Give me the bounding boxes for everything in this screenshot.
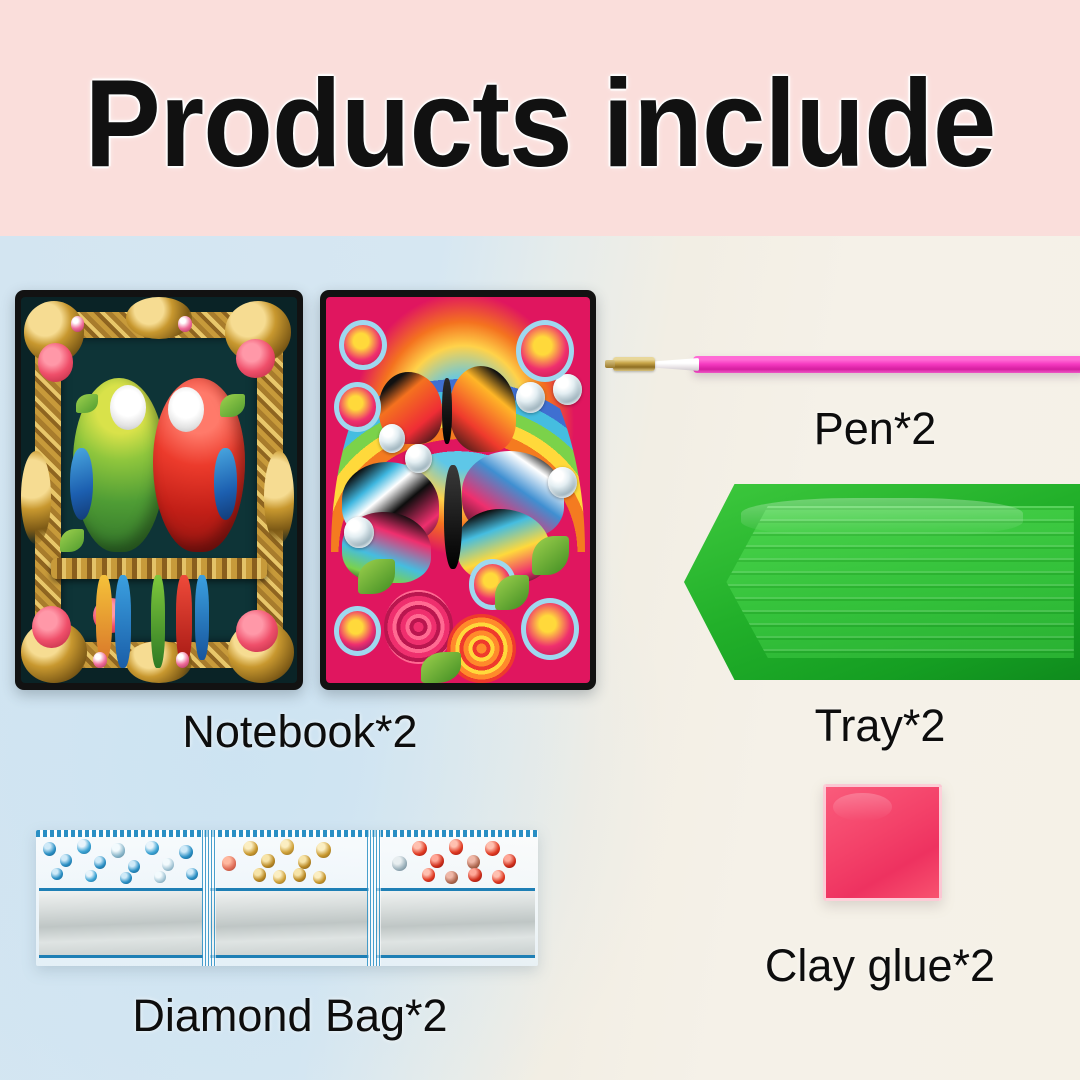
rhinestone-gem: [71, 316, 85, 331]
butterfly-body: [442, 378, 452, 445]
pearl-bead: [344, 517, 373, 548]
header-band: Products include: [0, 0, 1080, 238]
diamond-packet: [36, 830, 207, 966]
packet-foil-label: [39, 888, 203, 958]
parrot-face: [110, 385, 146, 430]
pearl-bead: [405, 444, 431, 473]
green-leaf: [495, 575, 529, 610]
product-image-notebook-parrots[interactable]: [15, 290, 303, 690]
page-title: Products include: [43, 62, 1037, 186]
parrot-wing: [70, 448, 94, 521]
circle-motif: [339, 320, 387, 370]
pearl-bead: [516, 382, 545, 413]
rhinestone-gem: [178, 316, 192, 331]
pink-flower: [32, 606, 71, 648]
parrot-face: [168, 387, 204, 432]
label-clay-glue: Clay glue*2: [720, 942, 1040, 989]
label-tray: Tray*2: [760, 702, 1000, 749]
circle-motif: [521, 598, 579, 660]
packet-seam: [202, 830, 216, 966]
parrot-tail: [195, 575, 209, 660]
tray-grooved-base: [726, 506, 1073, 659]
pearl-bead: [548, 467, 577, 498]
pen-metal-tip: [613, 357, 655, 371]
diamond-packet: [372, 830, 538, 966]
packet-foil-label: [376, 888, 535, 958]
parrot-cover-art: [21, 297, 297, 683]
green-leaf: [358, 559, 395, 594]
butterfly-wing: [450, 366, 516, 451]
circle-motif: [334, 606, 382, 656]
parrot-tail: [176, 575, 193, 664]
parrot-tail: [115, 575, 132, 668]
pen-barrel: [693, 356, 1080, 373]
rhinestone-gem: [93, 652, 107, 667]
packet-foil-label: [210, 888, 369, 958]
parrot-wing: [214, 448, 238, 521]
circle-motif: [334, 382, 382, 432]
packet-seam: [367, 830, 381, 966]
parrot-tail: [96, 575, 113, 660]
product-image-diamond-bag[interactable]: [36, 830, 538, 966]
pink-flower: [236, 610, 277, 652]
frame-scroll-ornament: [264, 451, 294, 544]
green-leaf: [421, 652, 461, 683]
diamond-packet: [207, 830, 373, 966]
product-image-clay-glue[interactable]: [823, 784, 942, 901]
pen-collar: [651, 358, 699, 371]
product-image-notebook-butterflies[interactable]: [320, 290, 596, 690]
product-infographic: Products include: [0, 0, 1080, 1080]
product-image-pen[interactable]: [605, 352, 1080, 378]
parrot-tail: [151, 575, 165, 668]
pink-flower: [236, 339, 275, 378]
circle-motif: [516, 320, 574, 382]
label-diamond-bag: Diamond Bag*2: [90, 992, 490, 1039]
label-notebook: Notebook*2: [105, 708, 495, 755]
product-image-tray[interactable]: [684, 484, 1080, 680]
rhinestone-gem: [176, 652, 190, 667]
pink-flower: [38, 343, 74, 382]
label-pen: Pen*2: [755, 405, 995, 452]
butterfly-cover-art: [326, 297, 590, 683]
butterfly-body: [444, 465, 462, 570]
